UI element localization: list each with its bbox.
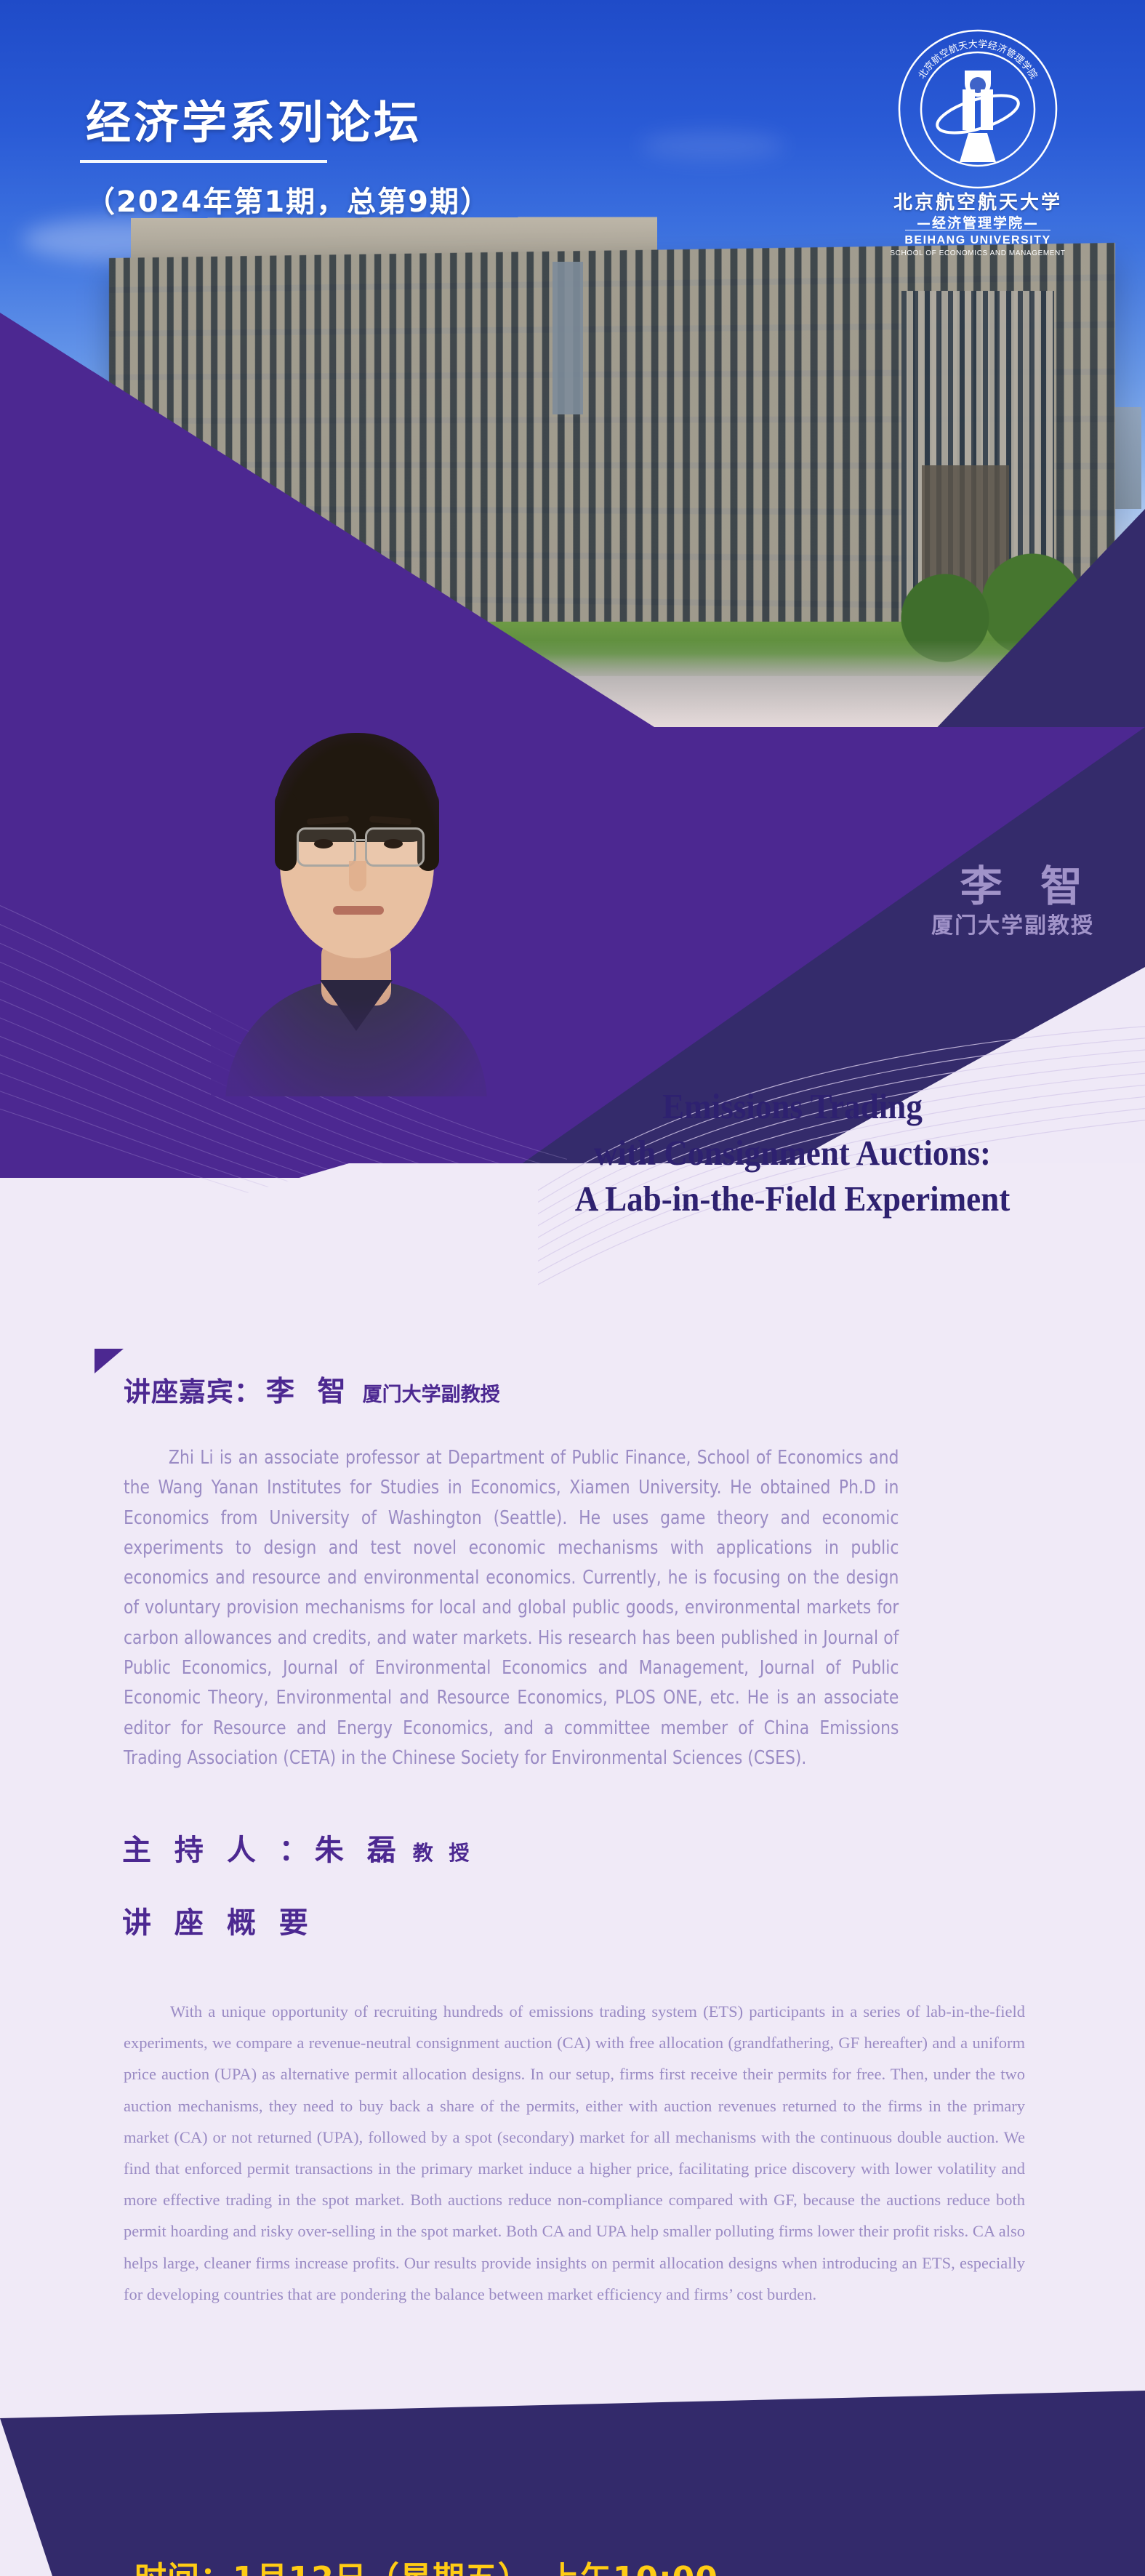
host-label: 主 持 人 ：	[122, 1826, 315, 1869]
beihang-university-seal-icon: 1988 北京航空航天大学经济管理学院	[887, 25, 1069, 193]
guest-affiliation: 厦门大学副教授	[363, 1379, 500, 1407]
host-row: 主 持 人 ： 朱 磊 教 授	[122, 1826, 473, 1869]
guest-label: 讲座嘉宾：	[124, 1370, 262, 1409]
svg-text:1988: 1988	[965, 153, 989, 164]
page-title: 经济学系列论坛	[86, 86, 422, 151]
abstract-body: With a unique opportunity of recruiting …	[124, 1996, 1025, 2310]
speaker-name-badge: 李 智	[0, 852, 1094, 913]
host-title: 教 授	[413, 1837, 474, 1866]
guest-speaker-row: 讲座嘉宾： 李 智 厦门大学副教授	[124, 1369, 500, 1410]
talk-title-line-1: Emissions Trading	[498, 1083, 1087, 1130]
building-gap	[553, 262, 583, 414]
talk-title: Emissions Trading with Consignment Aucti…	[498, 1083, 1087, 1222]
guest-bio: Zhi Li is an associate professor at Depa…	[124, 1443, 899, 1773]
abstract-heading: 讲 座 概 要	[122, 1899, 315, 1941]
host-name: 朱 磊	[315, 1826, 403, 1869]
logo-university-name-cn: 北京航空航天大学	[883, 188, 1072, 214]
speaker-affiliation-badge: 厦门大学副教授	[0, 907, 1094, 939]
logo-school-name-cn: —经济管理学院—	[883, 212, 1072, 232]
issue-number: （2024年第1期，总第9期）	[86, 178, 491, 220]
logo-school-name-en: SCHOOL OF ECONOMICS AND MANAGEMENT	[876, 249, 1080, 257]
seminar-poster: 经济学系列论坛 （2024年第1期，总第9期） 1988 北京航空航天大学经济管…	[0, 0, 1145, 2576]
logo-university-name-en: BEIHANG UNIVERSITY	[883, 234, 1072, 247]
event-time: 时间：1月12日（星期五），上午10:00	[134, 2552, 718, 2576]
title-divider	[80, 160, 327, 163]
talk-title-line-3: A Lab-in-the-Field Experiment	[498, 1176, 1087, 1222]
talk-title-line-2: with Consignment Auctions:	[498, 1130, 1087, 1176]
guest-name: 李 智	[266, 1369, 353, 1410]
